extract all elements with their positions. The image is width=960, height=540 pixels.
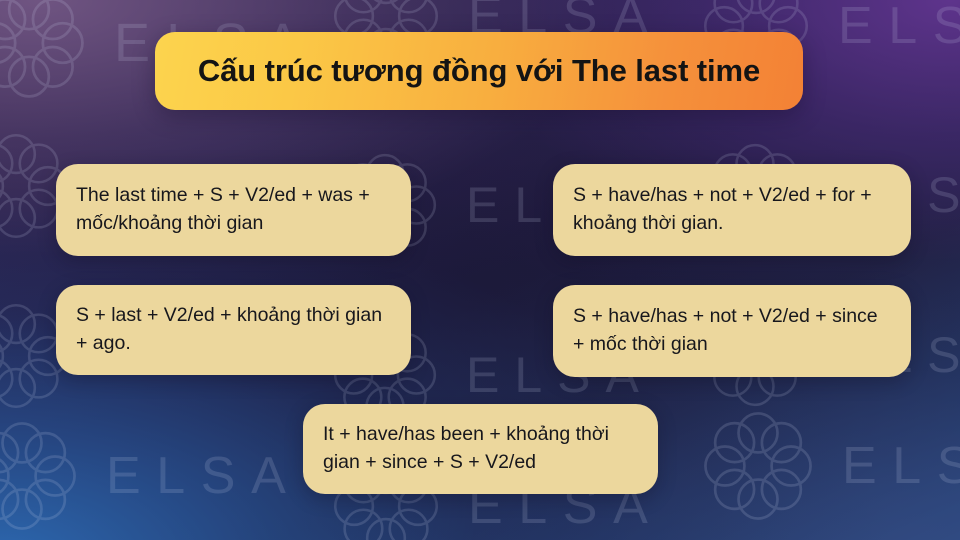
structure-card: S + have/has + not + V2/ed + since + mốc… [553, 285, 911, 377]
structure-card-text: S + last + V2/ed + khoảng thời gian + ag… [76, 302, 391, 357]
structure-card: The last time + S + V2/ed + was + mốc/kh… [56, 164, 411, 256]
structure-card-text: S + have/has + not + V2/ed + since + mốc… [573, 303, 891, 358]
structure-card-text: It + have/has been + khoảng thời gian + … [323, 421, 638, 476]
title-banner: Cấu trúc tương đồng với The last time [155, 32, 803, 110]
structure-card: S + have/has + not + V2/ed + for + khoản… [553, 164, 911, 256]
slide-canvas: ELSAELSAELSAELSAELSAELSAELSAELSAELSAELSA… [0, 0, 960, 540]
structure-card: It + have/has been + khoảng thời gian + … [303, 404, 658, 494]
structure-card-text: S + have/has + not + V2/ed + for + khoản… [573, 182, 891, 237]
page-title: Cấu trúc tương đồng với The last time [182, 54, 776, 88]
structure-card: S + last + V2/ed + khoảng thời gian + ag… [56, 285, 411, 375]
structure-card-text: The last time + S + V2/ed + was + mốc/kh… [76, 182, 391, 237]
